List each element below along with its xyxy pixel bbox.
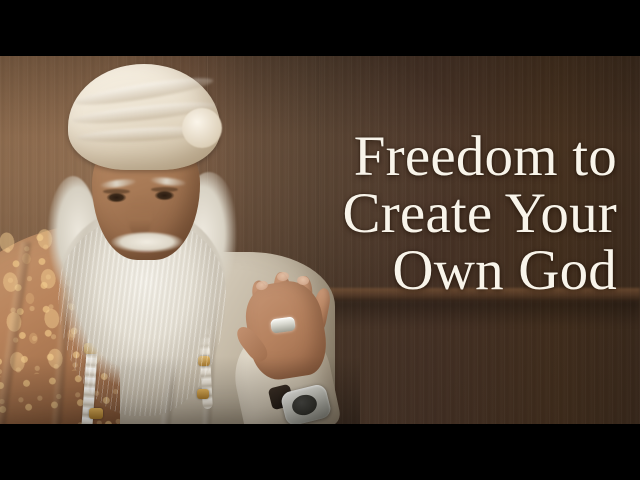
bead-clasp — [197, 389, 209, 399]
title-line-3: Own God — [157, 242, 617, 299]
letterbox-bar-top — [0, 0, 640, 56]
video-title: Freedom to Create Your Own God — [157, 128, 617, 299]
title-line-1: Freedom to — [157, 128, 617, 185]
video-thumbnail: Freedom to Create Your Own God — [0, 0, 640, 480]
letterbox-bar-bottom — [0, 424, 640, 480]
video-frame: Freedom to Create Your Own God — [0, 56, 640, 424]
eye-left — [104, 192, 129, 203]
title-line-2: Create Your — [157, 185, 617, 242]
bead-clasp — [89, 408, 103, 419]
